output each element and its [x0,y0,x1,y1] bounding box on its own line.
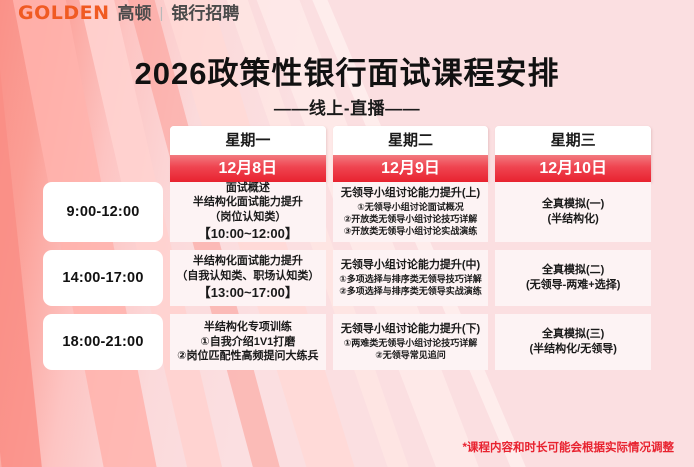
course-line: 全真模拟(二) [542,263,604,278]
table-body: 9:00-12:00面试概述半结构化面试能力提升（岗位认知类）【10:00~12… [43,182,651,370]
course-line: 面试概述 [226,181,270,196]
logo-wordmark: GOLDEN [18,4,110,23]
course-line: 无领导小组讨论能力提升(中) [341,258,480,273]
course-line: （岗位认知类） [209,210,286,225]
schedule-row: 9:00-12:00面试概述半结构化面试能力提升（岗位认知类）【10:00~12… [43,182,651,242]
course-line: (无领导-两难+选择) [526,278,620,293]
column-header: 星期一12月8日 [170,126,326,182]
course-cell: 面试概述半结构化面试能力提升（岗位认知类）【10:00~12:00】 [170,182,326,242]
brand-logo: GOLDEN 高顿 | 银行招聘 [18,4,239,23]
table-header-row: 星期一12月8日星期二12月9日星期三12月10日 [43,126,651,182]
course-line: 【13:00~17:00】 [198,284,298,302]
schedule-row: 18:00-21:00半结构化专项训练①自我介绍1V1打磨②岗位匹配性高频提问大… [43,314,651,370]
course-cell: 全真模拟(二)(无领导-两难+选择) [495,250,651,306]
course-line: 无领导小组讨论能力提升(下) [341,322,480,337]
course-line: 全真模拟(三) [542,327,604,342]
course-cell: 全真模拟(三)(半结构化/无领导) [495,314,651,370]
course-line: ②无领导常见追问 [375,349,446,361]
course-line: ①自我介绍1V1打磨 [200,335,295,350]
header-corner-spacer [43,126,163,182]
course-cell: 无领导小组讨论能力提升(上)①无领导小组讨论面试概况②开放类无领导小组讨论技巧详… [333,182,489,242]
course-line: 【10:00~12:00】 [198,225,298,243]
page-title: 2026政策性银行面试课程安排 [0,48,694,93]
logo-brand-cn: 高顿 [118,5,152,22]
column-header-day: 星期二 [333,126,489,155]
footnote-note: *课程内容和时长可能会根据实际情况调整 [463,439,674,455]
course-line: 半结构化面试能力提升 [193,254,303,269]
column-header-date: 12月10日 [495,155,651,182]
column-header-date: 12月8日 [170,155,326,182]
course-cell: 无领导小组讨论能力提升(中)①多项选择与排序类无领导技巧详解②多项选择与排序类无… [333,250,489,306]
column-header-day: 星期三 [495,126,651,155]
logo-separator: | [160,5,164,22]
course-cell: 半结构化专项训练①自我介绍1V1打磨②岗位匹配性高频提问大练兵 [170,314,326,370]
course-line: （自我认知类、职场认知类） [176,269,319,284]
time-slot-label: 9:00-12:00 [43,182,163,242]
course-line: 半结构化面试能力提升 [193,195,303,210]
course-line: ②多项选择与排序类无领导实战演练 [339,285,482,297]
course-line: ①两难类无领导小组讨论技巧详解 [344,337,478,349]
column-header: 星期二12月9日 [333,126,489,182]
column-header-date: 12月9日 [333,155,489,182]
course-line: ②岗位匹配性高频提问大练兵 [177,349,318,364]
schedule-row: 14:00-17:00半结构化面试能力提升（自我认知类、职场认知类）【13:00… [43,250,651,306]
logo-subbrand: 银行招聘 [171,5,239,22]
time-slot-label: 18:00-21:00 [43,314,163,370]
course-line: (半结构化) [548,212,599,227]
course-line: ③开放类无领导小组讨论实战演练 [344,225,478,237]
schedule-table: 星期一12月8日星期二12月9日星期三12月10日 9:00-12:00面试概述… [43,126,651,370]
page-subtitle: ——线上-直播—— [0,94,694,119]
course-line: (半结构化/无领导) [529,342,616,357]
course-line: 半结构化专项训练 [204,320,292,335]
time-slot-label: 14:00-17:00 [43,250,163,306]
course-cell: 半结构化面试能力提升（自我认知类、职场认知类）【13:00~17:00】 [170,250,326,306]
course-cell: 全真模拟(一)(半结构化) [495,182,651,242]
course-line: ①无领导小组讨论面试概况 [357,201,464,213]
column-header-day: 星期一 [170,126,326,155]
course-line: 无领导小组讨论能力提升(上) [341,186,480,201]
course-line: ②开放类无领导小组讨论技巧详解 [344,213,478,225]
course-cell: 无领导小组讨论能力提升(下)①两难类无领导小组讨论技巧详解②无领导常见追问 [333,314,489,370]
course-line: ①多项选择与排序类无领导技巧详解 [339,273,482,285]
course-line: 全真模拟(一) [542,197,604,212]
column-header: 星期三12月10日 [495,126,651,182]
